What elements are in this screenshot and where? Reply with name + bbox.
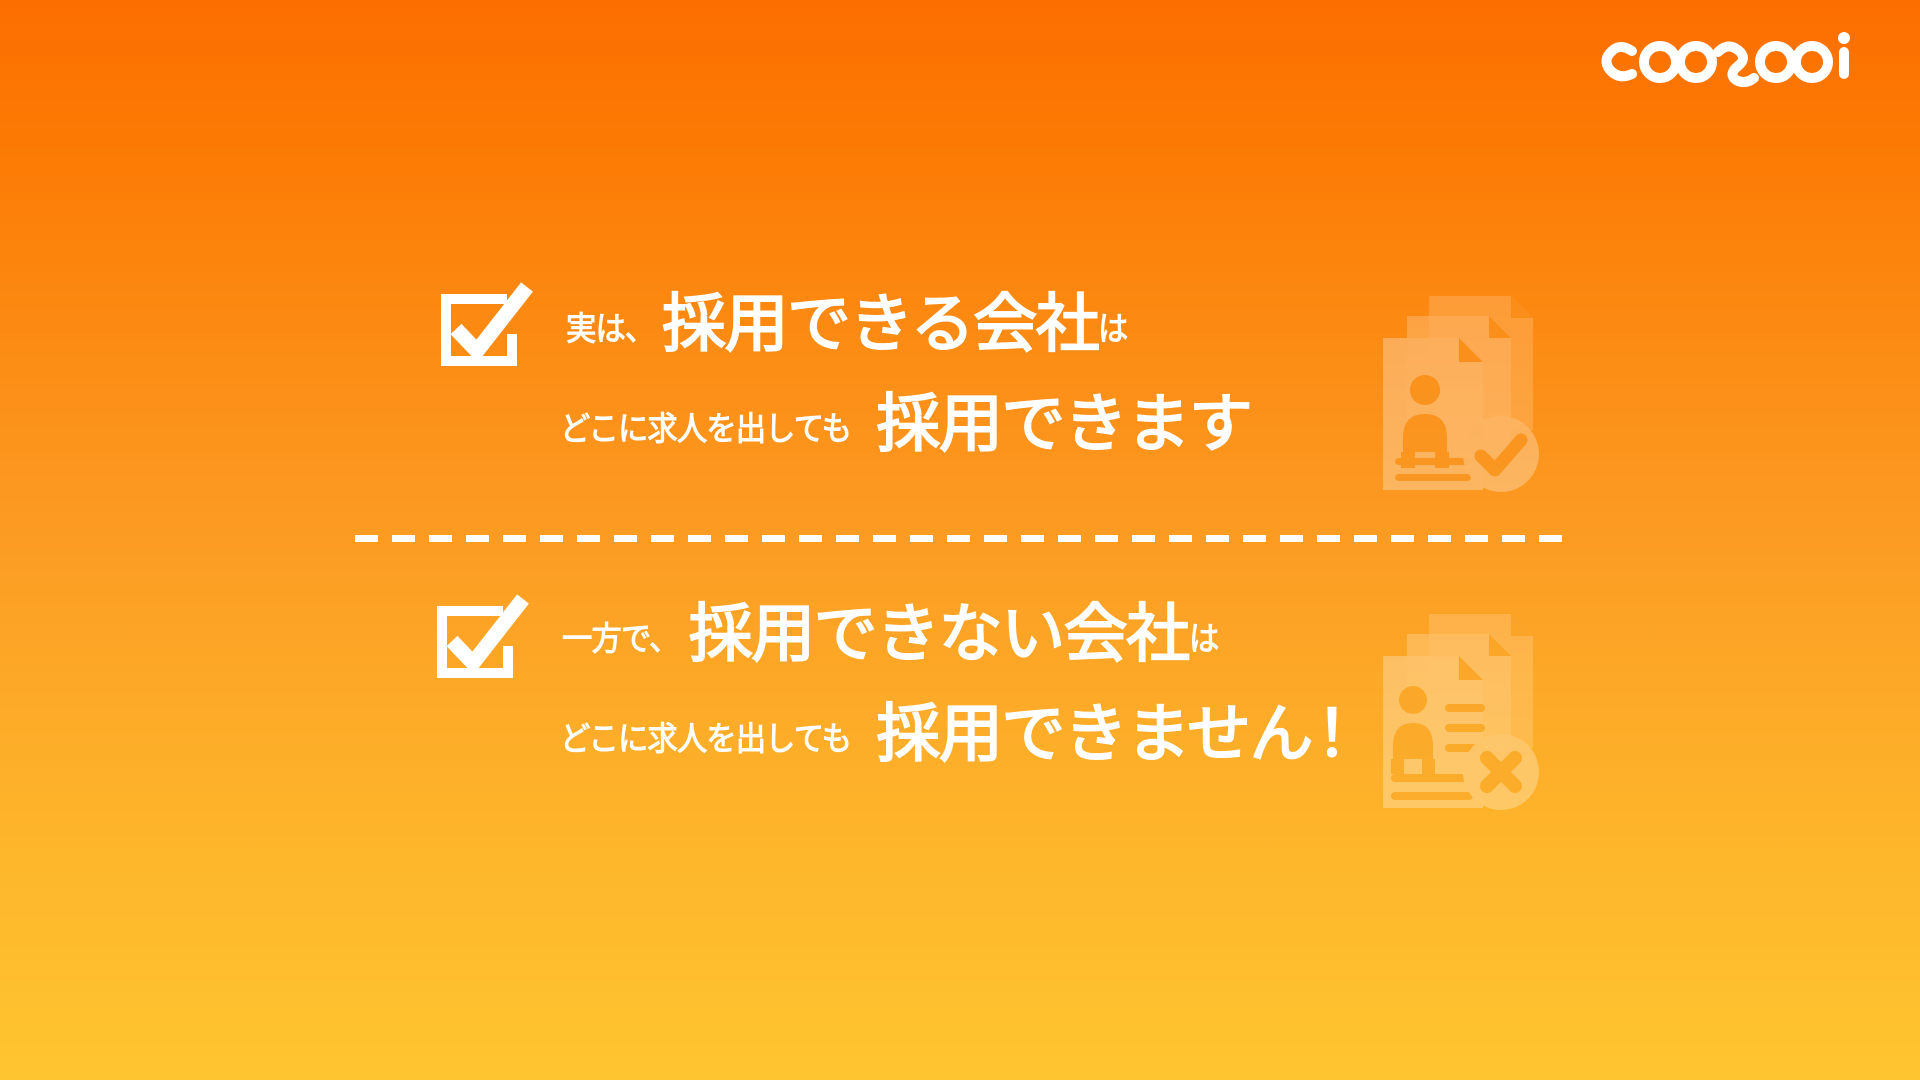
statement-prefix: どこに求人を出しても [560,412,851,445]
statement-emphasis: 採用できます [876,392,1251,456]
statement-particle: は [1189,622,1218,655]
statement-exclamation: ！ [1316,702,1380,766]
statement-prefix: 実は、 [566,312,654,345]
statement-block-can-hire: 実は、 採用できる会社 は どこに求人を出しても 採用できます [0,278,1920,478]
statement-emphasis: 採用できない会社 [689,602,1189,666]
statement-line: 実は、 採用できる会社 は [0,278,1920,370]
statement-text-can-hire: 実は、 採用できる会社 は どこに求人を出しても 採用できます [0,278,1920,470]
statement-emphasis: 採用できません [876,702,1312,766]
statement-block-cannot-hire: 一方で、 採用できない会社 は どこに求人を出しても 採用できません ！ [0,588,1920,788]
statement-line: どこに求人を出しても 採用できません ！ [0,688,1920,780]
statement-particle: は [1098,312,1127,345]
statement-text-cannot-hire: 一方で、 採用できない会社 は どこに求人を出しても 採用できません ！ [0,588,1920,780]
statement-emphasis: 採用できる会社 [662,292,1098,356]
dashed-divider [355,535,1567,542]
slide-stage: 実は、 採用できる会社 は どこに求人を出しても 採用できます [0,0,1920,1080]
statement-line: 一方で、 採用できない会社 は [0,588,1920,680]
statement-prefix: 一方で、 [562,622,679,655]
statement-prefix: どこに求人を出しても [560,722,851,755]
statement-line: どこに求人を出しても 採用できます [0,378,1920,470]
